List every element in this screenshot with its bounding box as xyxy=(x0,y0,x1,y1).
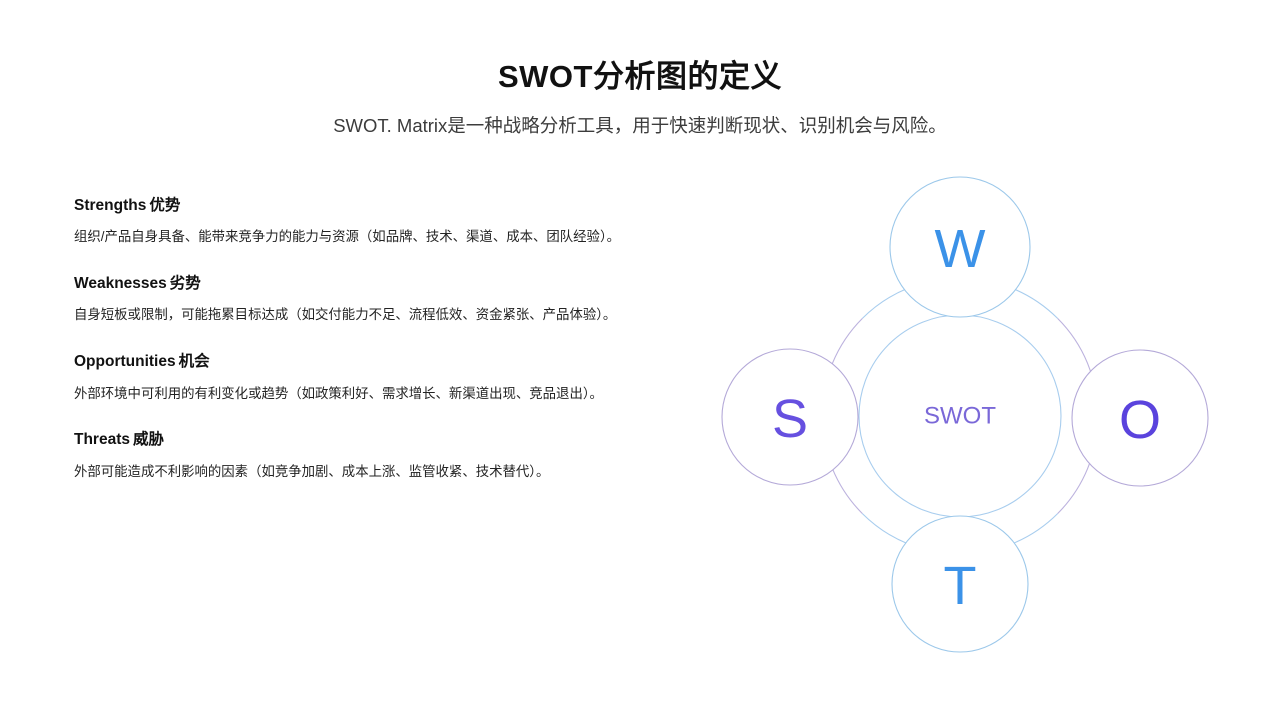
swot-node-w[interactable]: W xyxy=(890,177,1030,317)
page-subtitle: SWOT. Matrix是一种战略分析工具，用于快速判断现状、识别机会与风险。 xyxy=(0,114,1280,138)
swot-node-o-letter: O xyxy=(1119,390,1161,450)
swot-body-weaknesses: 自身短板或限制，可能拖累目标达成（如交付能力不足、流程低效、资金紧张、产品体验）… xyxy=(74,304,654,326)
swot-node-o[interactable]: O xyxy=(1072,350,1208,486)
swot-heading-threats-cn: 威胁 xyxy=(133,431,164,448)
swot-heading-weaknesses: Weaknesses劣势 xyxy=(74,274,662,293)
page-title: SWOT分析图的定义 xyxy=(0,58,1280,95)
swot-item-weaknesses: Weaknesses劣势 自身短板或限制，可能拖累目标达成（如交付能力不足、流程… xyxy=(74,274,662,326)
swot-item-opportunities: Opportunities机会 外部环境中可利用的有利变化或趋势（如政策利好、需… xyxy=(74,352,662,404)
swot-node-w-letter: W xyxy=(935,219,986,279)
swot-item-strengths: Strengths优势 组织/产品自身具备、能带来竞争力的能力与资源（如品牌、技… xyxy=(74,196,662,248)
swot-heading-strengths-cn: 优势 xyxy=(149,197,180,214)
swot-node-t-letter: T xyxy=(944,556,977,616)
swot-node-s[interactable]: S xyxy=(722,349,858,485)
swot-definition-list: Strengths优势 组织/产品自身具备、能带来竞争力的能力与资源（如品牌、技… xyxy=(74,196,662,482)
swot-heading-threats: Threats威胁 xyxy=(74,430,662,449)
slide-canvas: SWOT分析图的定义 SWOT. Matrix是一种战略分析工具，用于快速判断现… xyxy=(0,0,1280,720)
swot-diagram: SWOT W S O T xyxy=(700,156,1220,676)
slide-header: SWOT分析图的定义 SWOT. Matrix是一种战略分析工具，用于快速判断现… xyxy=(0,58,1280,138)
swot-body-opportunities: 外部环境中可利用的有利变化或趋势（如政策利好、需求增长、新渠道出现、竞品退出）。 xyxy=(74,383,654,405)
swot-center-label: SWOT xyxy=(924,403,996,430)
swot-heading-weaknesses-cn: 劣势 xyxy=(170,275,201,292)
swot-heading-strengths: Strengths优势 xyxy=(74,196,662,215)
swot-node-t[interactable]: T xyxy=(892,516,1028,652)
swot-item-threats: Threats威胁 外部可能造成不利影响的因素（如竞争加剧、成本上涨、监管收紧、… xyxy=(74,430,662,482)
swot-heading-opportunities-en: Opportunities xyxy=(74,353,176,370)
swot-body-strengths: 组织/产品自身具备、能带来竞争力的能力与资源（如品牌、技术、渠道、成本、团队经验… xyxy=(74,226,654,248)
swot-heading-opportunities-cn: 机会 xyxy=(179,353,210,370)
swot-heading-threats-en: Threats xyxy=(74,431,130,448)
swot-heading-opportunities: Opportunities机会 xyxy=(74,352,662,371)
swot-body-threats: 外部可能造成不利影响的因素（如竞争加剧、成本上涨、监管收紧、技术替代）。 xyxy=(74,461,654,483)
swot-heading-weaknesses-en: Weaknesses xyxy=(74,275,167,292)
swot-node-s-letter: S xyxy=(772,389,808,449)
swot-heading-strengths-en: Strengths xyxy=(74,197,146,214)
